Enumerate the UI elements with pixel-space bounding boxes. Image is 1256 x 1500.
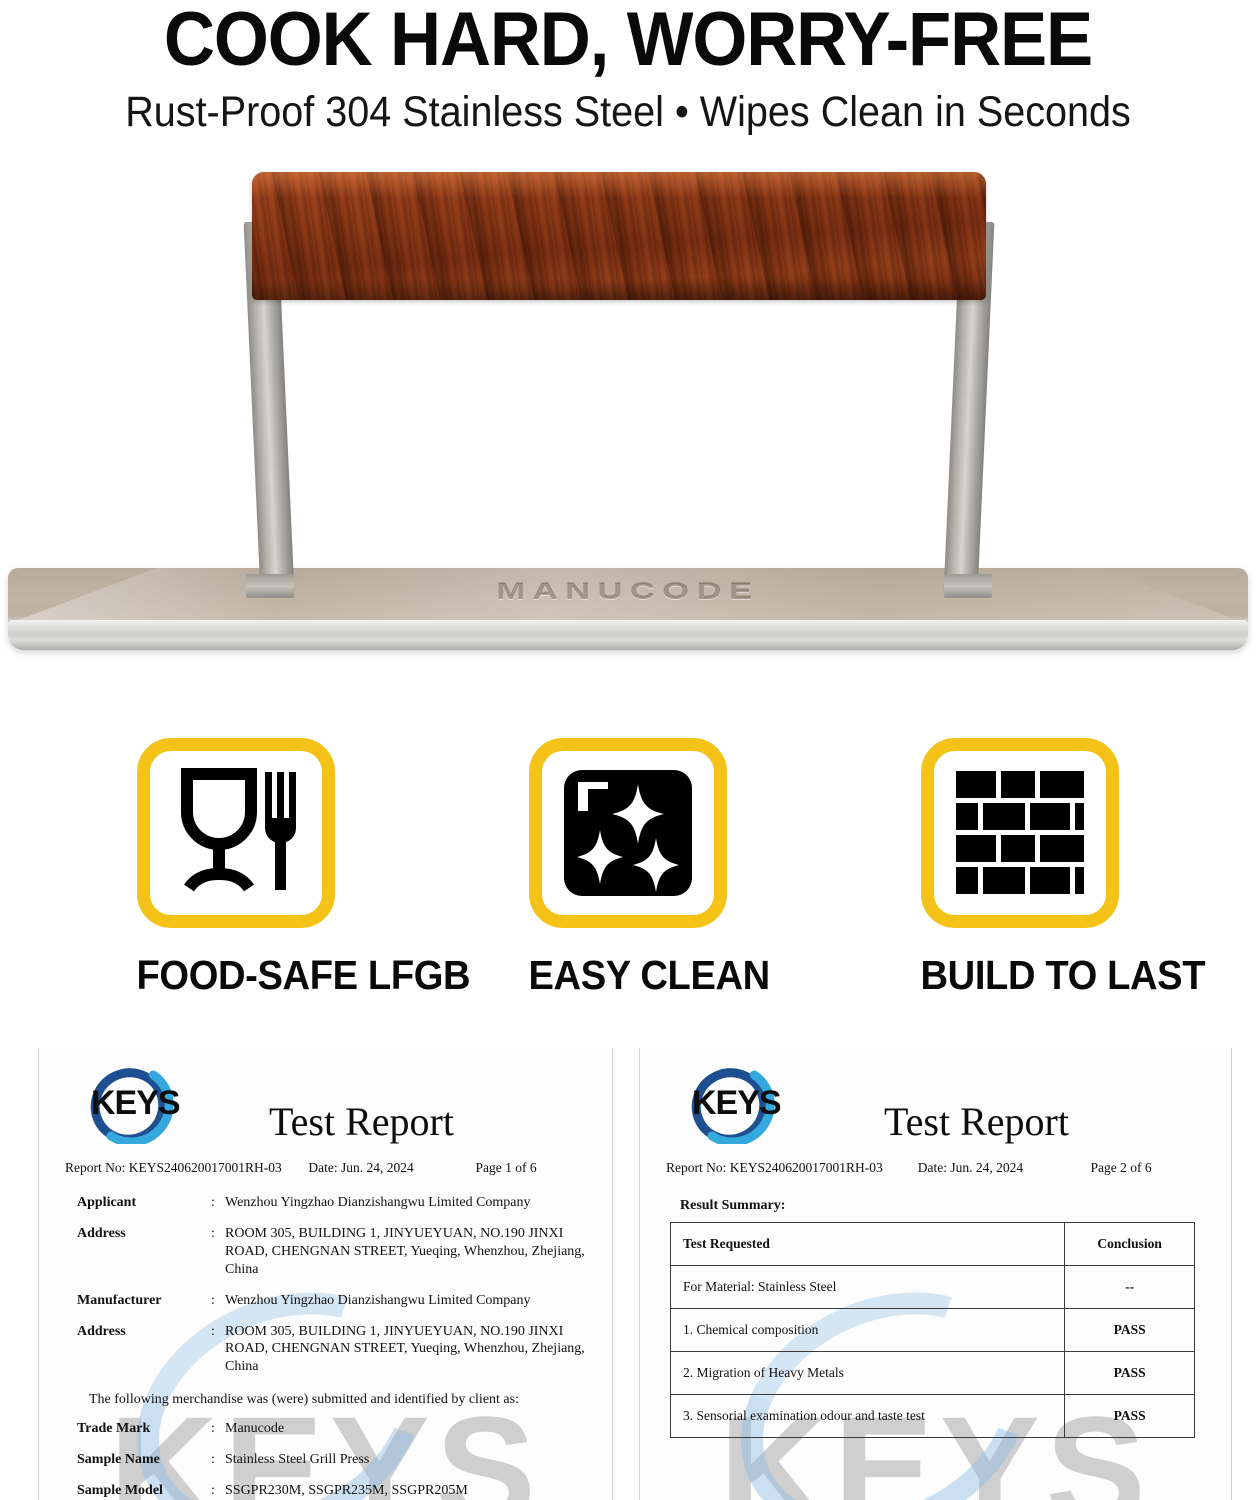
cell-test: For Material: Stainless Steel — [671, 1266, 1065, 1309]
feature-label: FOOD-SAFE LFGB — [136, 952, 335, 999]
brand-emboss-text: MANUCODE — [496, 578, 759, 605]
result-summary-table: Test Requested Conclusion For Material: … — [670, 1222, 1195, 1438]
page-subtitle: Rust-Proof 304 Stainless Steel • Wipes C… — [50, 91, 1206, 134]
detail-separator: : — [211, 1225, 225, 1243]
table-row: For Material: Stainless Steel -- — [671, 1266, 1195, 1309]
feature-easy-clean: EASY CLEAN — [521, 738, 735, 999]
press-base-edge — [8, 620, 1248, 650]
cell-test: 3. Sensorial examination odour and taste… — [671, 1395, 1065, 1438]
detail-value: Wenzhou Yingzhao Dianzishangwu Limited C… — [225, 1292, 590, 1310]
feature-icon-frame — [529, 738, 727, 928]
sparkle-square-icon — [560, 766, 696, 900]
table-row: 3. Sensorial examination odour and taste… — [671, 1395, 1195, 1438]
press-leg-foot-left — [246, 574, 294, 598]
detail-value: Manucode — [225, 1420, 590, 1438]
detail-key: Address — [61, 1225, 211, 1243]
cell-test: 1. Chemical composition — [671, 1309, 1065, 1352]
detail-value: SSGPR230M, SSGPR235M, SSGPR205M — [225, 1482, 590, 1500]
table-row: 1. Chemical composition PASS — [671, 1309, 1195, 1352]
table-row: 2. Migration of Heavy Metals PASS — [671, 1352, 1195, 1395]
page-number: Page 2 of 6 — [1091, 1160, 1209, 1176]
detail-separator: : — [211, 1292, 225, 1310]
detail-value: ROOM 305, BUILDING 1, JINYUEYUAN, NO.190… — [225, 1225, 590, 1279]
feature-icon-frame — [921, 738, 1119, 928]
handle-shadow — [252, 278, 986, 300]
keys-logo-text: KEYS — [91, 1084, 180, 1123]
column-header-test: Test Requested — [671, 1223, 1065, 1266]
detail-separator: : — [211, 1420, 225, 1438]
cell-conclusion: PASS — [1065, 1352, 1195, 1395]
document-meta: Report No: KEYS240620017001RH-03 Date: J… — [662, 1160, 1209, 1176]
merchandise-note: The following merchandise was (were) sub… — [89, 1392, 590, 1408]
result-summary-label: Result Summary: — [680, 1198, 1209, 1214]
feature-food-safe: FOOD-SAFE LFGB — [129, 738, 343, 999]
page-title: COOK HARD, WORRY-FREE — [44, 4, 1212, 77]
detail-key: Address — [61, 1323, 211, 1341]
document-header: KEYS Test Report — [61, 1062, 590, 1158]
brick-wall-icon — [952, 767, 1088, 899]
press-leg-foot-right — [944, 574, 992, 598]
detail-key: Trade Mark — [61, 1420, 211, 1438]
glass-and-fork-icon — [173, 766, 299, 900]
detail-value: Stainless Steel Grill Press — [225, 1451, 590, 1469]
keys-logo-text: KEYS — [692, 1084, 781, 1123]
page-number: Page 1 of 6 — [475, 1160, 590, 1176]
product-hero: MANUCODE — [0, 150, 1256, 690]
test-report-page-1: KEYS KEYS Test Report Report No: KEYS240… — [38, 1048, 613, 1500]
detail-key: Applicant — [61, 1194, 211, 1212]
certification-documents: KEYS KEYS Test Report Report No: KEYS240… — [0, 1048, 1256, 1500]
feature-icon-frame — [137, 738, 335, 928]
detail-key: Sample Name — [61, 1451, 211, 1469]
cell-conclusion: -- — [1065, 1266, 1195, 1309]
detail-row: Trade Mark : Manucode — [61, 1420, 590, 1438]
detail-separator: : — [211, 1194, 225, 1212]
report-date: Date: Jun. 24, 2024 — [918, 1160, 1091, 1176]
feature-label: BUILD TO LAST — [920, 952, 1119, 999]
feature-row: FOOD-SAFE LFGB EASY CLEAN — [0, 738, 1256, 999]
wooden-handle — [252, 172, 986, 300]
detail-row: Sample Name : Stainless Steel Grill Pres… — [61, 1451, 590, 1469]
document-title: Test Report — [269, 1098, 454, 1145]
report-number: Report No: KEYS240620017001RH-03 — [65, 1160, 308, 1176]
handle-highlight — [252, 172, 986, 198]
detail-row: Applicant : Wenzhou Yingzhao Dianzishang… — [61, 1194, 590, 1212]
detail-key: Manufacturer — [61, 1292, 211, 1310]
detail-key: Sample Model — [61, 1482, 211, 1500]
column-header-conclusion: Conclusion — [1065, 1223, 1195, 1266]
detail-value: ROOM 305, BUILDING 1, JINYUEYUAN, NO.190… — [225, 1323, 590, 1377]
detail-separator: : — [211, 1323, 225, 1341]
detail-separator: : — [211, 1482, 225, 1500]
detail-row: Manufacturer : Wenzhou Yingzhao Dianzish… — [61, 1292, 590, 1310]
detail-row: Sample Model : SSGPR230M, SSGPR235M, SSG… — [61, 1482, 590, 1500]
headline-block: COOK HARD, WORRY-FREE Rust-Proof 304 Sta… — [0, 0, 1256, 134]
table-header-row: Test Requested Conclusion — [671, 1223, 1195, 1266]
detail-value: Wenzhou Yingzhao Dianzishangwu Limited C… — [225, 1194, 590, 1212]
report-date: Date: Jun. 24, 2024 — [308, 1160, 475, 1176]
report-number: Report No: KEYS240620017001RH-03 — [666, 1160, 918, 1176]
test-report-page-2: KEYS KEYS Test Report Report No: KEYS240… — [639, 1048, 1232, 1500]
detail-separator: : — [211, 1451, 225, 1469]
document-meta: Report No: KEYS240620017001RH-03 Date: J… — [61, 1160, 590, 1176]
grill-press-product-image: MANUCODE — [0, 150, 1256, 690]
feature-label: EASY CLEAN — [528, 952, 727, 999]
sample-details: Trade Mark : Manucode Sample Name : Stai… — [61, 1420, 590, 1500]
cell-test: 2. Migration of Heavy Metals — [671, 1352, 1065, 1395]
document-header: KEYS Test Report — [662, 1062, 1209, 1158]
cell-conclusion: PASS — [1065, 1309, 1195, 1352]
cell-conclusion: PASS — [1065, 1395, 1195, 1438]
applicant-details: Applicant : Wenzhou Yingzhao Dianzishang… — [61, 1194, 590, 1376]
detail-row: Address : ROOM 305, BUILDING 1, JINYUEYU… — [61, 1323, 590, 1377]
detail-row: Address : ROOM 305, BUILDING 1, JINYUEYU… — [61, 1225, 590, 1279]
document-title: Test Report — [884, 1098, 1069, 1145]
feature-build-to-last: BUILD TO LAST — [913, 738, 1127, 999]
